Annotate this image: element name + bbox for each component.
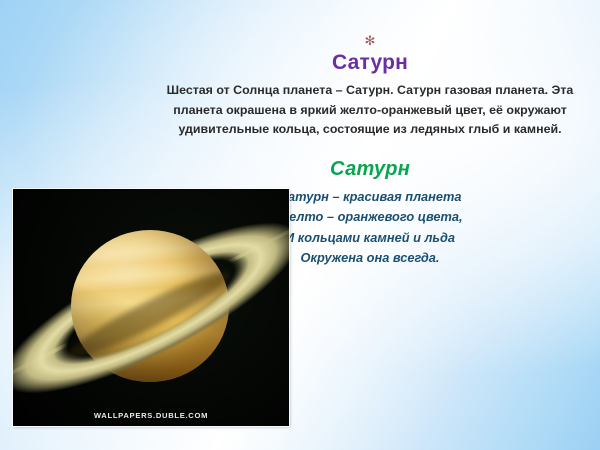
photo-watermark: WALLPAPERS.DUBLE.COM [13, 411, 289, 420]
asterisk-bullet-icon: ✻ [150, 36, 590, 48]
poem-title: Сатурн [150, 157, 590, 181]
page-title: Сатурн [150, 50, 590, 76]
slide-canvas: ✻ Сатурн Шестая от Солнца планета – Сату… [0, 0, 600, 450]
description-paragraph: Шестая от Солнца планета – Сатурн. Сатур… [150, 81, 590, 140]
saturn-photo: WALLPAPERS.DUBLE.COM [13, 189, 289, 426]
